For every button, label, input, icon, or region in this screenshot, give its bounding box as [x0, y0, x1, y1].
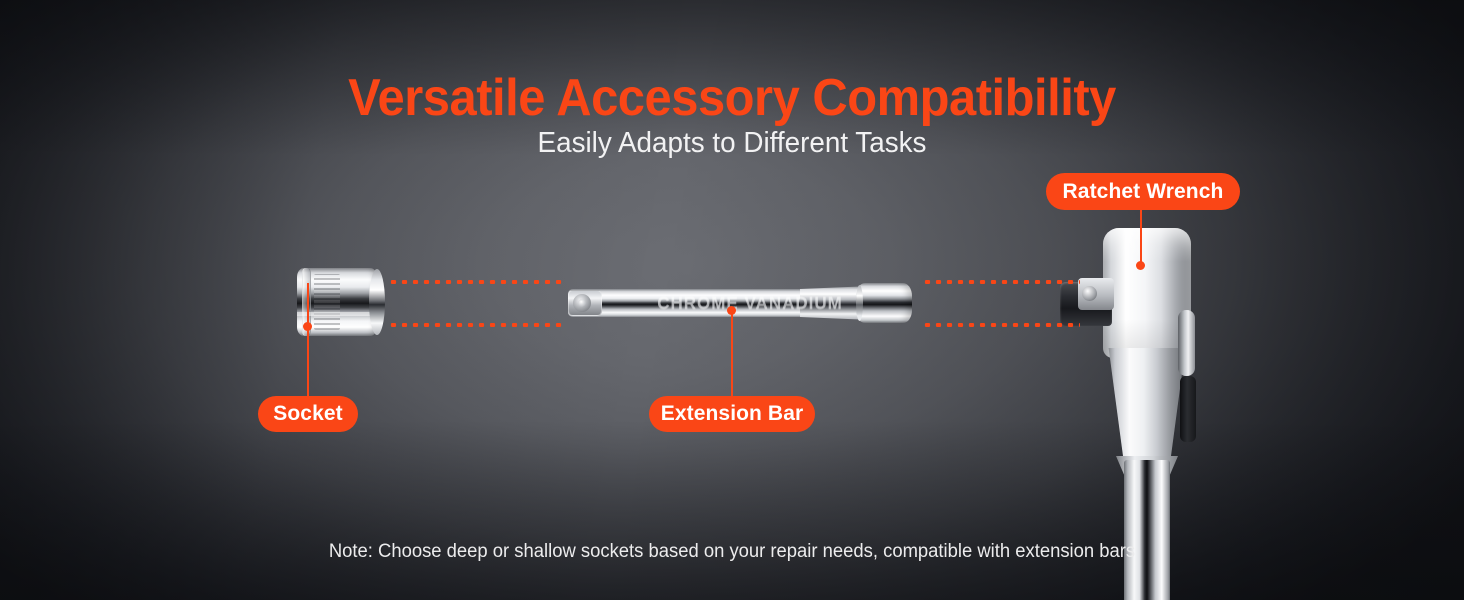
alignment-rail-extension-to-ratchet-top	[922, 280, 1080, 284]
socket-highlight-band	[297, 312, 377, 316]
product-feature-banner: Versatile Accessory Compatibility Easily…	[0, 0, 1464, 600]
leader-line-ratchet-wrench	[1140, 210, 1142, 266]
label-badge-extension-bar: Extension Bar	[649, 396, 815, 432]
alignment-rail-socket-to-extension-top	[388, 280, 564, 284]
extension-bar-engraving-text: CHROME VANADIUM	[660, 291, 840, 313]
label-badge-socket: Socket	[258, 396, 358, 432]
label-badge-ratchet-wrench: Ratchet Wrench	[1046, 173, 1240, 210]
footer-note: Note: Choose deep or shallow sockets bas…	[22, 541, 1442, 563]
leader-dot-ratchet-wrench	[1136, 261, 1145, 270]
socket-end-cap	[369, 269, 385, 335]
leader-dot-extension-bar	[727, 306, 736, 315]
ratchet-handle-shaft	[1124, 460, 1170, 600]
extension-bar-detent-ball	[578, 299, 586, 307]
page-title: Versatile Accessory Compatibility	[44, 68, 1420, 128]
socket-size-markings	[314, 274, 340, 330]
ratchet-drive-pin	[1082, 286, 1097, 301]
extension-bar-tool-image: CHROME VANADIUM	[568, 283, 912, 323]
alignment-rail-extension-to-ratchet-bottom	[922, 323, 1080, 327]
extension-bar-collar	[856, 283, 912, 323]
leader-line-extension-bar	[731, 310, 733, 396]
ratchet-neck	[1107, 348, 1187, 468]
extension-bar-collar-edge	[856, 285, 863, 321]
ratchet-lever-grip	[1180, 376, 1196, 442]
alignment-rail-socket-to-extension-bottom	[388, 323, 564, 327]
leader-line-socket	[307, 283, 309, 396]
leader-dot-socket	[303, 322, 312, 331]
ratchet-direction-lever	[1178, 310, 1195, 376]
page-subtitle: Easily Adapts to Different Tasks	[29, 127, 1434, 160]
